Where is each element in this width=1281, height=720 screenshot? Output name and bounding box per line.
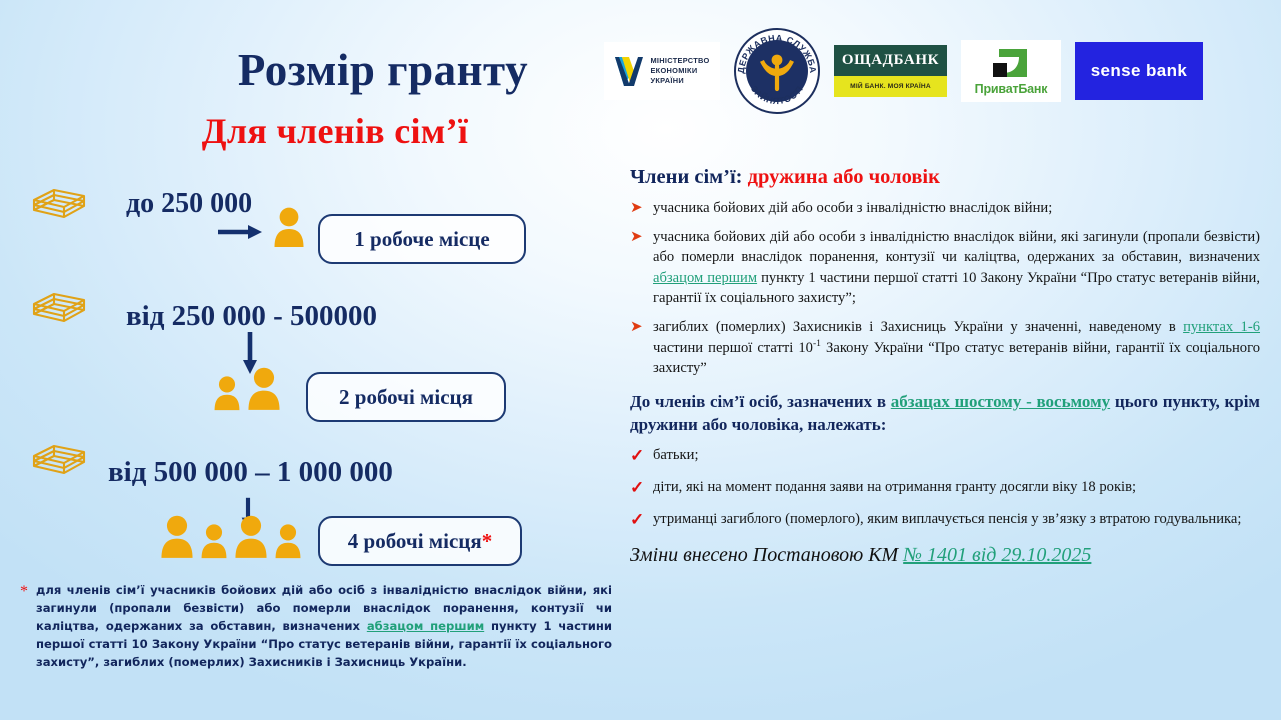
subheading-link[interactable]: абзацах шостому - восьмому [891, 392, 1110, 411]
right-panel: Члени сім’ї: дружина або чоловік ➤ учасн… [630, 166, 1260, 567]
triangle-bullet-list: ➤ учасника бойових дій або особи з інвал… [630, 198, 1260, 378]
list-item: ✓ батьки; [630, 445, 1260, 468]
ministry-logo-text: МІНІСТЕРСТВО ЕКОНОМІКИ УКРАЇНИ [650, 56, 709, 86]
check-icon: ✓ [630, 445, 644, 468]
footnote-link[interactable]: абзацом першим [367, 619, 484, 633]
triangle-bullet-icon: ➤ [630, 317, 644, 378]
check-icon: ✓ [630, 477, 644, 500]
tier-3-badge-label: 4 робочі місця [348, 529, 482, 554]
check-bullet-list: ✓ батьки; ✓ діти, які на момент подання … [630, 445, 1260, 532]
bullet-1-part-1: учасника бойових дій або особи з інвалід… [653, 200, 1052, 216]
person-icon [245, 366, 283, 411]
amendment-footer: Зміни внесено Постановою КМ № 1401 від 2… [630, 544, 1260, 567]
person-icon [199, 523, 229, 559]
list-item: ➤ загиблих (померлих) Захисників і Захис… [630, 317, 1260, 378]
emblem-person-icon [755, 49, 799, 93]
person-icon [158, 514, 196, 559]
check-text: утриманці загиблого (померлого), яким ви… [653, 509, 1241, 532]
bullet-text: учасника бойових дій або особи з інвалід… [653, 198, 1052, 218]
footnote-text: для членів сім’ї учасників бойових дій а… [36, 582, 612, 672]
tier-2-amount: від 250 000 - 500000 [126, 300, 377, 333]
tier-3-people-group [158, 514, 303, 559]
tier-1-people-group [272, 206, 306, 248]
triangle-bullet-icon: ➤ [630, 227, 644, 308]
person-icon [272, 206, 306, 248]
tier-1-arrow-icon [216, 222, 264, 247]
heading-plain: Члени сім’ї: [630, 166, 748, 188]
ministry-line-3: УКРАЇНИ [650, 76, 684, 85]
check-text: діти, які на момент подання заяви на отр… [653, 477, 1136, 500]
ministry-line-2: ЕКОНОМІКИ [650, 66, 697, 75]
privatbank-logo: ПриватБанк [961, 40, 1061, 102]
person-icon [273, 523, 303, 559]
tier-1-badge-label: 1 робоче місце [354, 227, 489, 252]
person-icon [212, 375, 242, 411]
list-item: ➤ учасника бойових дій або особи з інвал… [630, 198, 1260, 218]
list-item: ✓ утриманці загиблого (померлого), яким … [630, 509, 1260, 532]
family-members-subheading: До членів сім’ї осіб, зазначених в абзац… [630, 390, 1260, 436]
subheading-part-1: До членів сім’ї осіб, зазначених в [630, 392, 891, 411]
tier-1-amount: до 250 000 [126, 188, 252, 220]
oschadbank-title: ОЩАДБАНК [834, 45, 947, 76]
triangle-bullet-icon: ➤ [630, 198, 644, 218]
privatbank-mark-icon [989, 47, 1033, 81]
oschadbank-logo: ОЩАДБАНК МІЙ БАНК. МОЯ КРАЇНА [834, 45, 947, 97]
privatbank-title: ПриватБанк [975, 82, 1048, 96]
bullet-3-part-1: загиблих (померлих) Захисників і Захисни… [653, 319, 1183, 335]
check-icon: ✓ [630, 509, 644, 532]
oschadbank-tagline: МІЙ БАНК. МОЯ КРАЇНА [834, 76, 947, 97]
amendment-link[interactable]: № 1401 від 29.10.2025 [903, 544, 1091, 566]
sense-bank-title: sense bank [1091, 61, 1188, 81]
bullet-3-superscript: -1 [813, 338, 821, 349]
money-stack-icon [28, 288, 90, 332]
ministry-mark-icon [614, 55, 644, 87]
bullet-text: загиблих (померлих) Захисників і Захисни… [653, 317, 1260, 378]
money-stack-icon [28, 440, 90, 484]
bullet-3-link[interactable]: пунктах 1-6 [1183, 319, 1260, 335]
tier-2-badge: 2 робочі місця [306, 372, 506, 422]
state-employment-service-logo: ДЕРЖАВНА СЛУЖБА ЗАЙНЯТОСТІ [734, 28, 820, 114]
sense-bank-logo: sense bank [1075, 42, 1203, 100]
person-icon [232, 514, 270, 559]
ministry-line-1: МІНІСТЕРСТВО [650, 56, 709, 65]
ministry-of-economy-logo: МІНІСТЕРСТВО ЕКОНОМІКИ УКРАЇНИ [604, 42, 720, 100]
list-item: ➤ учасника бойових дій або особи з інвал… [630, 227, 1260, 308]
list-item: ✓ діти, які на момент подання заяви на о… [630, 477, 1260, 500]
heading-highlight: дружина або чоловік [748, 166, 940, 188]
bullet-text: учасника бойових дій або особи з інвалід… [653, 227, 1260, 308]
logo-bar: МІНІСТЕРСТВО ЕКОНОМІКИ УКРАЇНИ ДЕРЖАВНА … [604, 32, 1276, 110]
tier-3-badge: 4 робочі місця* [318, 516, 522, 566]
page-title: Розмір гранту [158, 44, 608, 96]
bullet-2-link[interactable]: абзацом першим [653, 270, 757, 286]
tier-2-people-group [212, 366, 283, 411]
money-stack-icon [28, 184, 90, 228]
tier-3-amount: від 500 000 – 1 000 000 [108, 456, 393, 489]
bullet-2-part-1: учасника бойових дій або особи з інвалід… [653, 229, 1260, 265]
amendment-text: Зміни внесено Постановою КМ [630, 544, 903, 566]
footnote: * для членів сім’ї учасників бойових дій… [20, 582, 612, 672]
bullet-3-part-2: частини першої статті 10 [653, 340, 813, 356]
page-subtitle: Для членів сім’ї [110, 110, 560, 152]
slide-root: МІНІСТЕРСТВО ЕКОНОМІКИ УКРАЇНИ ДЕРЖАВНА … [0, 0, 1281, 720]
tier-3-badge-asterisk: * [482, 529, 493, 554]
footnote-asterisk: * [20, 582, 28, 672]
tier-1-badge: 1 робоче місце [318, 214, 526, 264]
family-members-heading: Члени сім’ї: дружина або чоловік [630, 166, 1260, 189]
tier-2-badge-label: 2 робочі місця [339, 385, 473, 410]
check-text: батьки; [653, 445, 699, 468]
